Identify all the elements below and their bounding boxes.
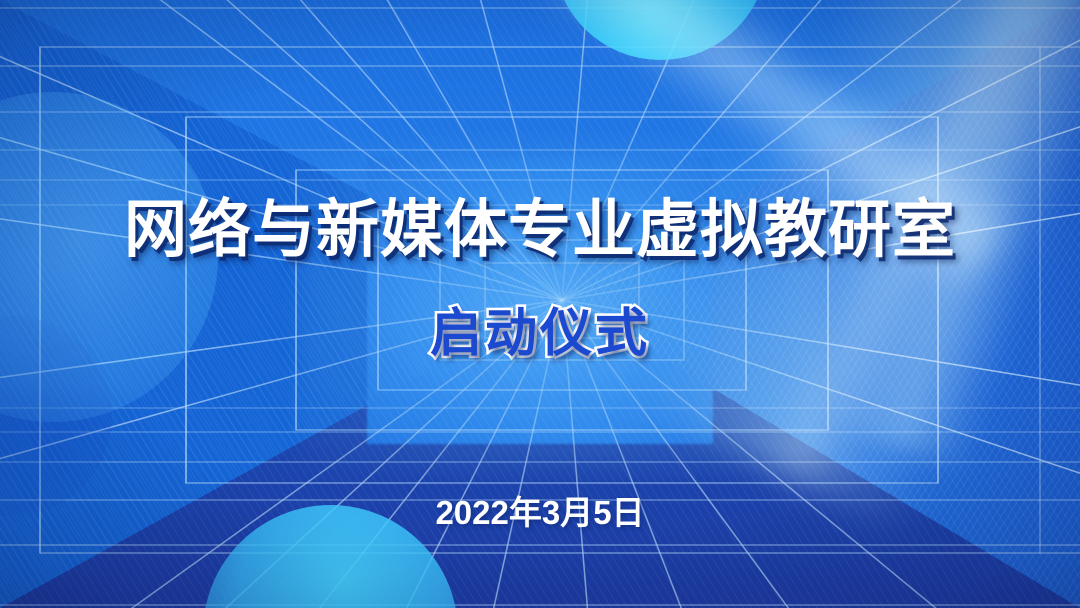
page-subtitle: 启动仪式 — [0, 308, 1080, 360]
event-date: 2022年3月5日 — [0, 496, 1080, 529]
slide-text-block: 网络与新媒体专业虚拟教研室 启动仪式 2022年3月5日 — [0, 0, 1080, 608]
page-title: 网络与新媒体专业虚拟教研室 — [0, 199, 1080, 262]
presentation-slide: 网络与新媒体专业虚拟教研室 启动仪式 2022年3月5日 — [0, 0, 1080, 608]
